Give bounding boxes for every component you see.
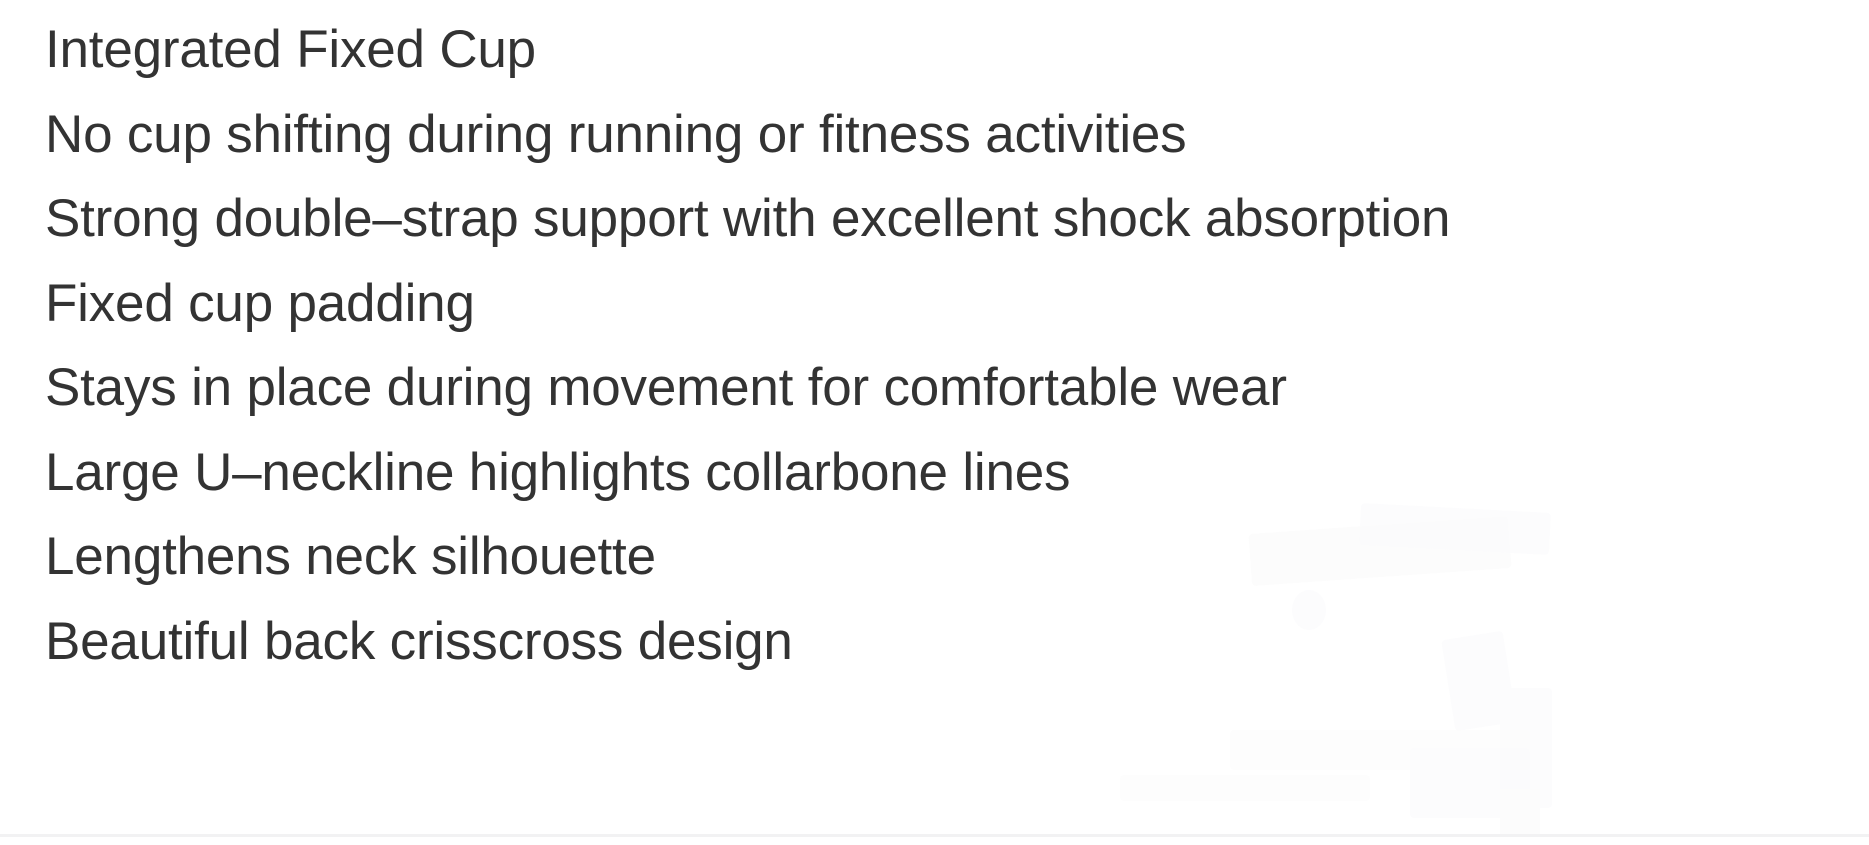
ghost-shape — [1230, 730, 1530, 770]
feature-list-item: Integrated Fixed Cup — [45, 8, 1869, 93]
feature-list-item: Fixed cup padding — [45, 262, 1869, 347]
product-feature-list: Integrated Fixed Cup No cup shifting dur… — [0, 0, 1869, 684]
feature-list-item: Beautiful back crisscross design — [45, 600, 1869, 685]
bottom-notch — [1500, 789, 1540, 834]
ghost-shape — [1120, 775, 1370, 801]
bottom-divider — [0, 834, 1869, 837]
feature-list-item: Strong double–strap support with excelle… — [45, 177, 1869, 262]
feature-list-item: Large U–neckline highlights collarbone l… — [45, 431, 1869, 516]
feature-list-item: Stays in place during movement for comfo… — [45, 346, 1869, 431]
feature-list-item: No cup shifting during running or fitnes… — [45, 93, 1869, 178]
feature-list-item: Lengthens neck silhouette — [45, 515, 1869, 600]
